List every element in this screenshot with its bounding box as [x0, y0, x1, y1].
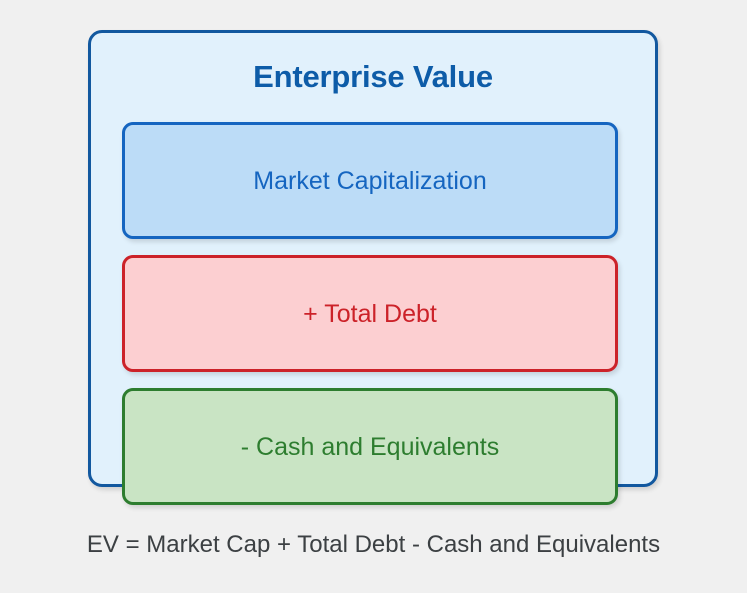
component-box-market-capitalization: Market Capitalization	[122, 122, 618, 239]
enterprise-value-title: Enterprise Value	[91, 59, 655, 95]
component-label-market-capitalization: Market Capitalization	[253, 166, 486, 196]
component-label-cash-and-equivalents: - Cash and Equivalents	[241, 432, 499, 462]
component-box-cash-and-equivalents: - Cash and Equivalents	[122, 388, 618, 505]
diagram-canvas: Enterprise Value Market Capitalization +…	[0, 0, 747, 593]
component-label-total-debt: + Total Debt	[303, 299, 437, 329]
formula-caption: EV = Market Cap + Total Debt - Cash and …	[0, 531, 747, 559]
component-box-total-debt: + Total Debt	[122, 255, 618, 372]
